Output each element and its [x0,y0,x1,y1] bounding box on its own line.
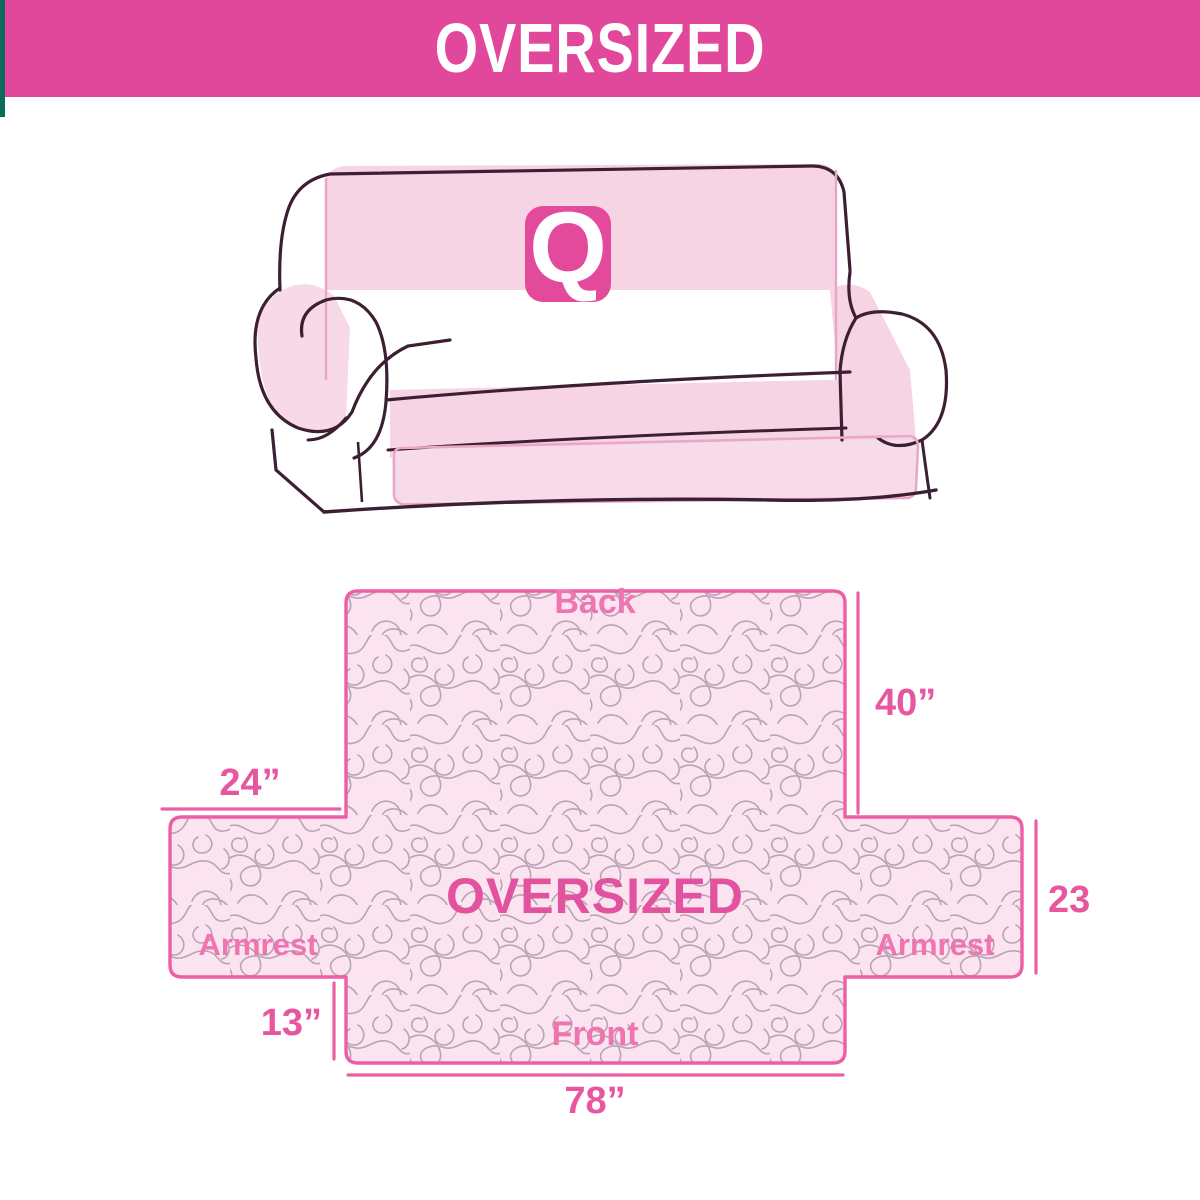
header-banner: OVERSIZED [0,0,1200,97]
slipcover-shape-group [170,591,1022,1063]
page-title: OVERSIZED [120,0,1080,97]
header-accent-stripe [0,0,5,117]
slipcover-cross-shape [170,591,1022,1063]
dimension-label-total-width: 78” [564,1080,625,1122]
sofa-illustration: Q [250,140,970,520]
flat-layout-diagram: Back Front Armrest Armrest OVERSIZED 40”… [140,545,1090,1135]
sofa-body-group: Q [255,164,950,512]
product-size-diagram-page: OVERSIZED [0,0,1200,1200]
dimension-label-back-offset: 24” [219,762,280,804]
dimension-label-front-height: 13” [261,1002,322,1044]
panel-label-armrest-left: Armrest [199,927,318,962]
brand-logo: Q [525,192,611,304]
center-label-oversized: OVERSIZED [446,868,744,924]
dimension-label-back-height: 40” [875,682,936,724]
panel-label-front: Front [552,1015,639,1053]
dimension-label-armrest-height: 23” [1048,879,1090,921]
panel-label-armrest-right: Armrest [876,927,995,962]
brand-logo-letter: Q [529,192,607,304]
panel-label-back: Back [554,583,635,621]
